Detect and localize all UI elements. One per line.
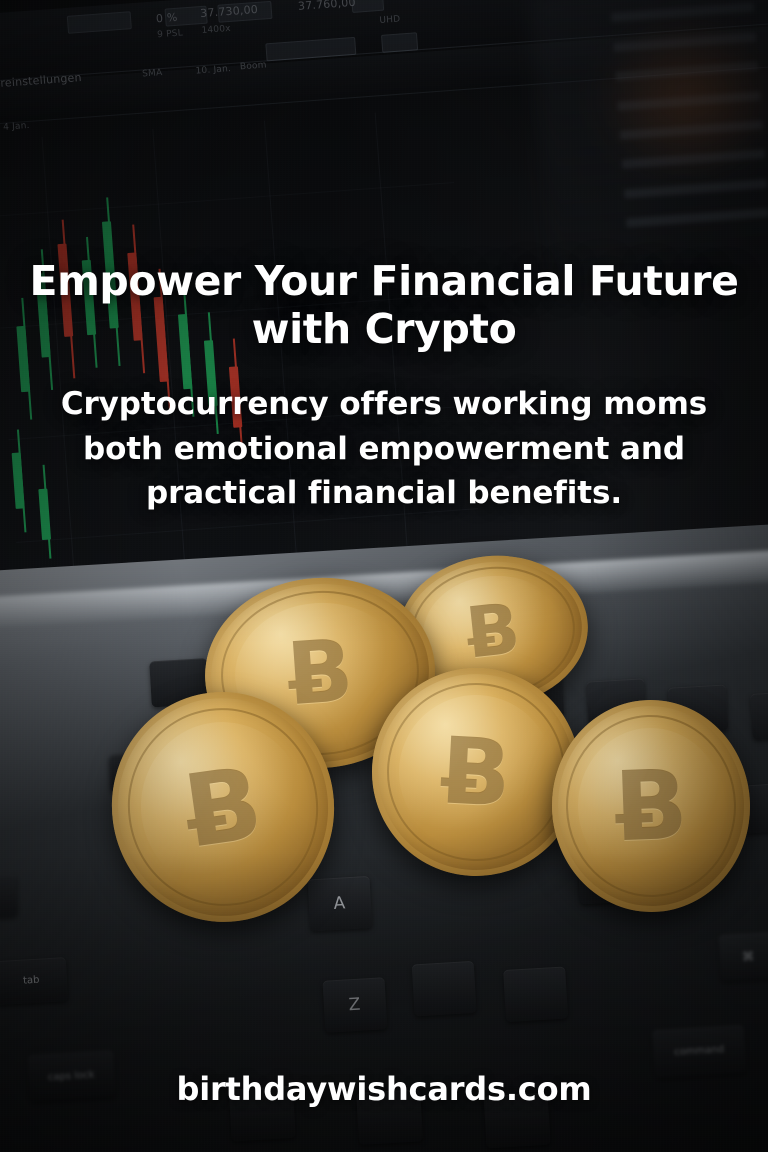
page-title: Empower Your Financial Future with Crypt… (16, 258, 752, 353)
poster-canvas: 0 % 37.730,00 37.760,00 9 PSL 1400x UHD … (0, 0, 768, 1152)
subtitle: Cryptocurrency offers working moms both … (58, 382, 710, 516)
website-url: birthdaywishcards.com (0, 1070, 768, 1108)
text-overlay: Empower Your Financial Future with Crypt… (0, 0, 768, 1152)
